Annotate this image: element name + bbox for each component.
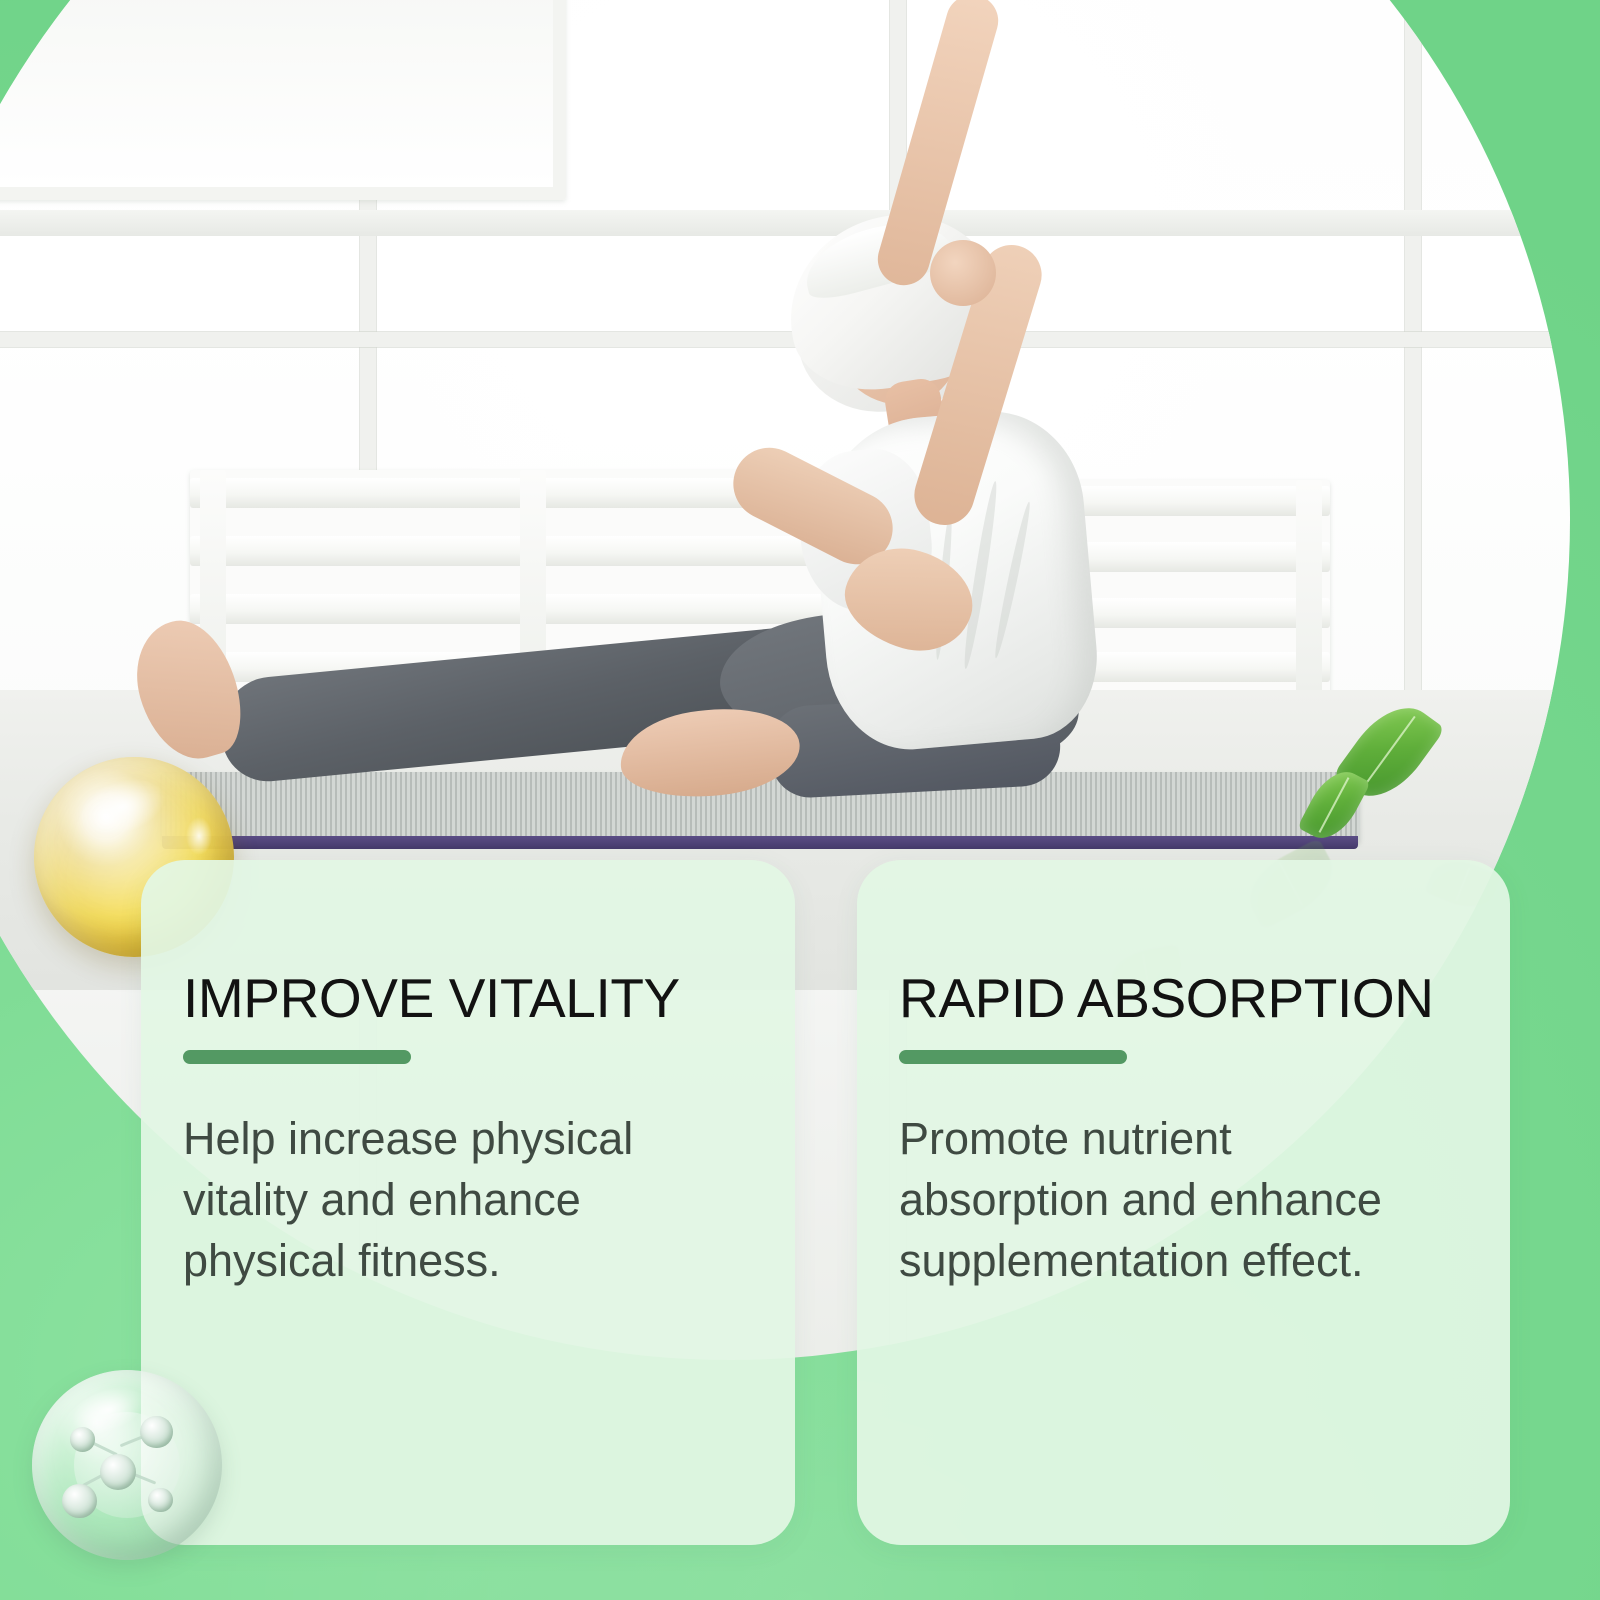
infographic-canvas: IMPROVE VITALITY Help increase physical … <box>0 0 1600 1600</box>
card-title: IMPROVE VITALITY <box>183 968 759 1028</box>
feature-card-rapid-absorption[interactable]: RAPID ABSORPTION Promote nutrient absorp… <box>857 860 1510 1545</box>
card-accent-rule <box>183 1050 411 1064</box>
card-title: RAPID ABSORPTION <box>899 968 1474 1028</box>
card-body-text: Promote nutrient absorption and enhance … <box>899 1108 1439 1291</box>
elbow <box>930 240 996 306</box>
card-accent-rule <box>899 1050 1127 1064</box>
molecule-atom <box>140 1416 172 1448</box>
molecule-atom <box>148 1488 173 1513</box>
card-body-text: Help increase physical vitality and enha… <box>183 1108 703 1291</box>
molecule-atom <box>62 1484 96 1518</box>
feature-card-improve-vitality[interactable]: IMPROVE VITALITY Help increase physical … <box>141 860 795 1545</box>
clear-molecule-sphere-icon <box>32 1370 222 1560</box>
molecule-atom-center <box>100 1454 136 1490</box>
